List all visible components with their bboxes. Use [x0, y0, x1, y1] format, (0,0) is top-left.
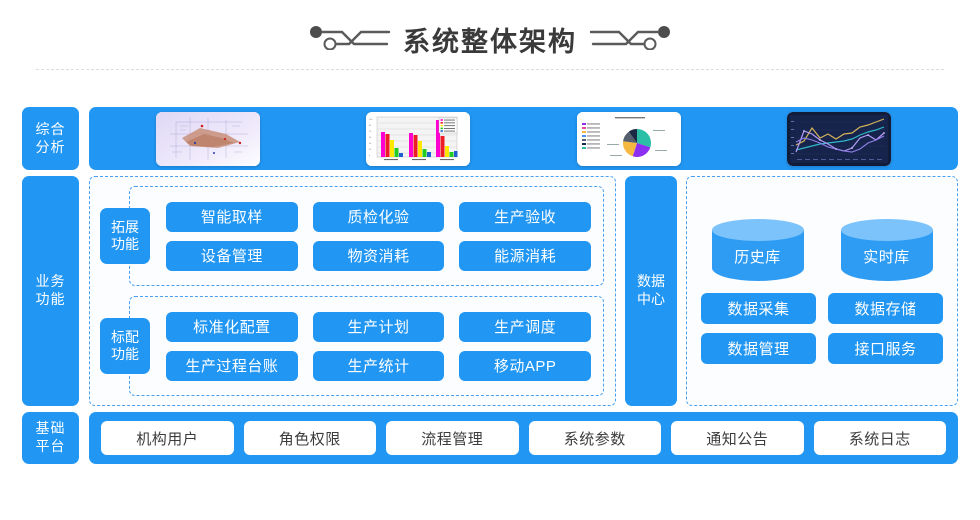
- pie-chart-thumbnail[interactable]: [577, 112, 681, 166]
- page-title: 系统整体架构: [403, 20, 577, 59]
- function-chip-production-ledger[interactable]: 生产过程台账: [166, 351, 298, 381]
- platform-label-line1: 基础: [36, 420, 66, 436]
- layer-label-data-center: 数据 中心: [625, 176, 677, 406]
- database-cylinder-history-icon[interactable]: 历史库: [712, 219, 804, 281]
- analysis-layer: 综合 分析: [22, 107, 958, 170]
- data-center-function-grid: 数据采集 数据存储 数据管理 接口服务: [701, 293, 943, 364]
- layer-label-business: 业务 功能: [22, 176, 79, 406]
- function-chip-standard-config[interactable]: 标准化配置: [166, 312, 298, 342]
- group-tag-standard: 标配 功能: [100, 318, 150, 374]
- function-chip-energy-consumption[interactable]: 能源消耗: [459, 241, 591, 271]
- analysis-label-line1: 综合: [36, 121, 66, 137]
- page-header: 系统整体架构: [0, 0, 980, 78]
- group-extended-line2: 功能: [111, 236, 139, 252]
- platform-chip-notifications[interactable]: 通知公告: [671, 421, 804, 455]
- group-tag-extended: 拓展 功能: [100, 208, 150, 264]
- layer-label-platform: 基础 平台: [22, 412, 79, 464]
- business-layer: 业务 功能 拓展 功能 智能取样 质检化验 生产验收 设备管理 物资消耗: [22, 176, 958, 406]
- circuit-line-decoration-left-icon: [309, 24, 391, 55]
- function-chip-production-acceptance[interactable]: 生产验收: [459, 202, 591, 232]
- analysis-label-line2: 分析: [36, 139, 66, 155]
- platform-chip-org-users[interactable]: 机构用户: [101, 421, 234, 455]
- function-chip-quality-inspection[interactable]: 质检化验: [313, 202, 445, 232]
- platform-layer: 基础 平台 机构用户 角色权限 流程管理 系统参数 通知公告 系统日志: [22, 412, 958, 464]
- data-chip-collection[interactable]: 数据采集: [701, 293, 816, 324]
- function-chip-production-scheduling[interactable]: 生产调度: [459, 312, 591, 342]
- function-chip-production-plan[interactable]: 生产计划: [313, 312, 445, 342]
- data-chip-interface-service[interactable]: 接口服务: [828, 333, 943, 364]
- data-chip-management[interactable]: 数据管理: [701, 333, 816, 364]
- bar-chart-thumbnail[interactable]: 1008070 5040200: [366, 112, 470, 166]
- platform-chip-process-management[interactable]: 流程管理: [386, 421, 519, 455]
- data-chip-storage[interactable]: 数据存储: [828, 293, 943, 324]
- business-functions-panel: 拓展 功能 智能取样 质检化验 生产验收 设备管理 物资消耗 能源消耗: [89, 176, 616, 406]
- group-extended-line1: 拓展: [111, 219, 139, 235]
- platform-chip-system-parameters[interactable]: 系统参数: [529, 421, 662, 455]
- database-label-history: 历史库: [734, 246, 781, 281]
- function-group-standard: 标配 功能 标准化配置 生产计划 生产调度 生产过程台账 生产统计 移动APP: [129, 296, 604, 396]
- group-standard-line1: 标配: [111, 329, 139, 345]
- database-cylinder-realtime-icon[interactable]: 实时库: [841, 219, 933, 281]
- function-chip-equipment-management[interactable]: 设备管理: [166, 241, 298, 271]
- business-label-line1: 业务: [36, 273, 66, 289]
- group-standard-line2: 功能: [111, 346, 139, 362]
- function-group-extended: 拓展 功能 智能取样 质检化验 生产验收 设备管理 物资消耗 能源消耗: [129, 186, 604, 286]
- data-center-panel: 历史库 实时库 数据采集 数据存储 数据管理 接口服务: [686, 176, 958, 406]
- title-wrap: 系统整体架构: [309, 20, 671, 59]
- circuit-line-decoration-right-icon: [589, 24, 671, 55]
- standard-function-grid: 标准化配置 生产计划 生产调度 生产过程台账 生产统计 移动APP: [166, 312, 591, 381]
- data-center-label-line2: 中心: [637, 291, 665, 307]
- line-chart-thumbnail[interactable]: [787, 112, 891, 166]
- platform-chip-role-permissions[interactable]: 角色权限: [244, 421, 377, 455]
- architecture-diagram: 系统整体架构 综合 分析: [0, 0, 980, 520]
- header-divider: [36, 69, 944, 70]
- schematic-diagram-thumbnail[interactable]: [156, 112, 260, 166]
- database-row: 历史库 实时库: [701, 219, 943, 281]
- function-chip-mobile-app[interactable]: 移动APP: [459, 351, 591, 381]
- function-chip-smart-sampling[interactable]: 智能取样: [166, 202, 298, 232]
- analysis-thumbnail-strip: 1008070 5040200: [89, 107, 958, 170]
- cylinder-top: [712, 219, 804, 241]
- data-center-label-line1: 数据: [637, 273, 665, 289]
- business-label-line2: 功能: [36, 291, 66, 307]
- function-chip-production-statistics[interactable]: 生产统计: [313, 351, 445, 381]
- platform-label-line2: 平台: [36, 438, 66, 454]
- extended-function-grid: 智能取样 质检化验 生产验收 设备管理 物资消耗 能源消耗: [166, 202, 591, 271]
- platform-chip-strip: 机构用户 角色权限 流程管理 系统参数 通知公告 系统日志: [89, 412, 958, 464]
- layer-label-analysis: 综合 分析: [22, 107, 79, 170]
- cylinder-top: [841, 219, 933, 241]
- platform-chip-system-log[interactable]: 系统日志: [814, 421, 947, 455]
- database-label-realtime: 实时库: [863, 246, 910, 281]
- function-chip-material-consumption[interactable]: 物资消耗: [313, 241, 445, 271]
